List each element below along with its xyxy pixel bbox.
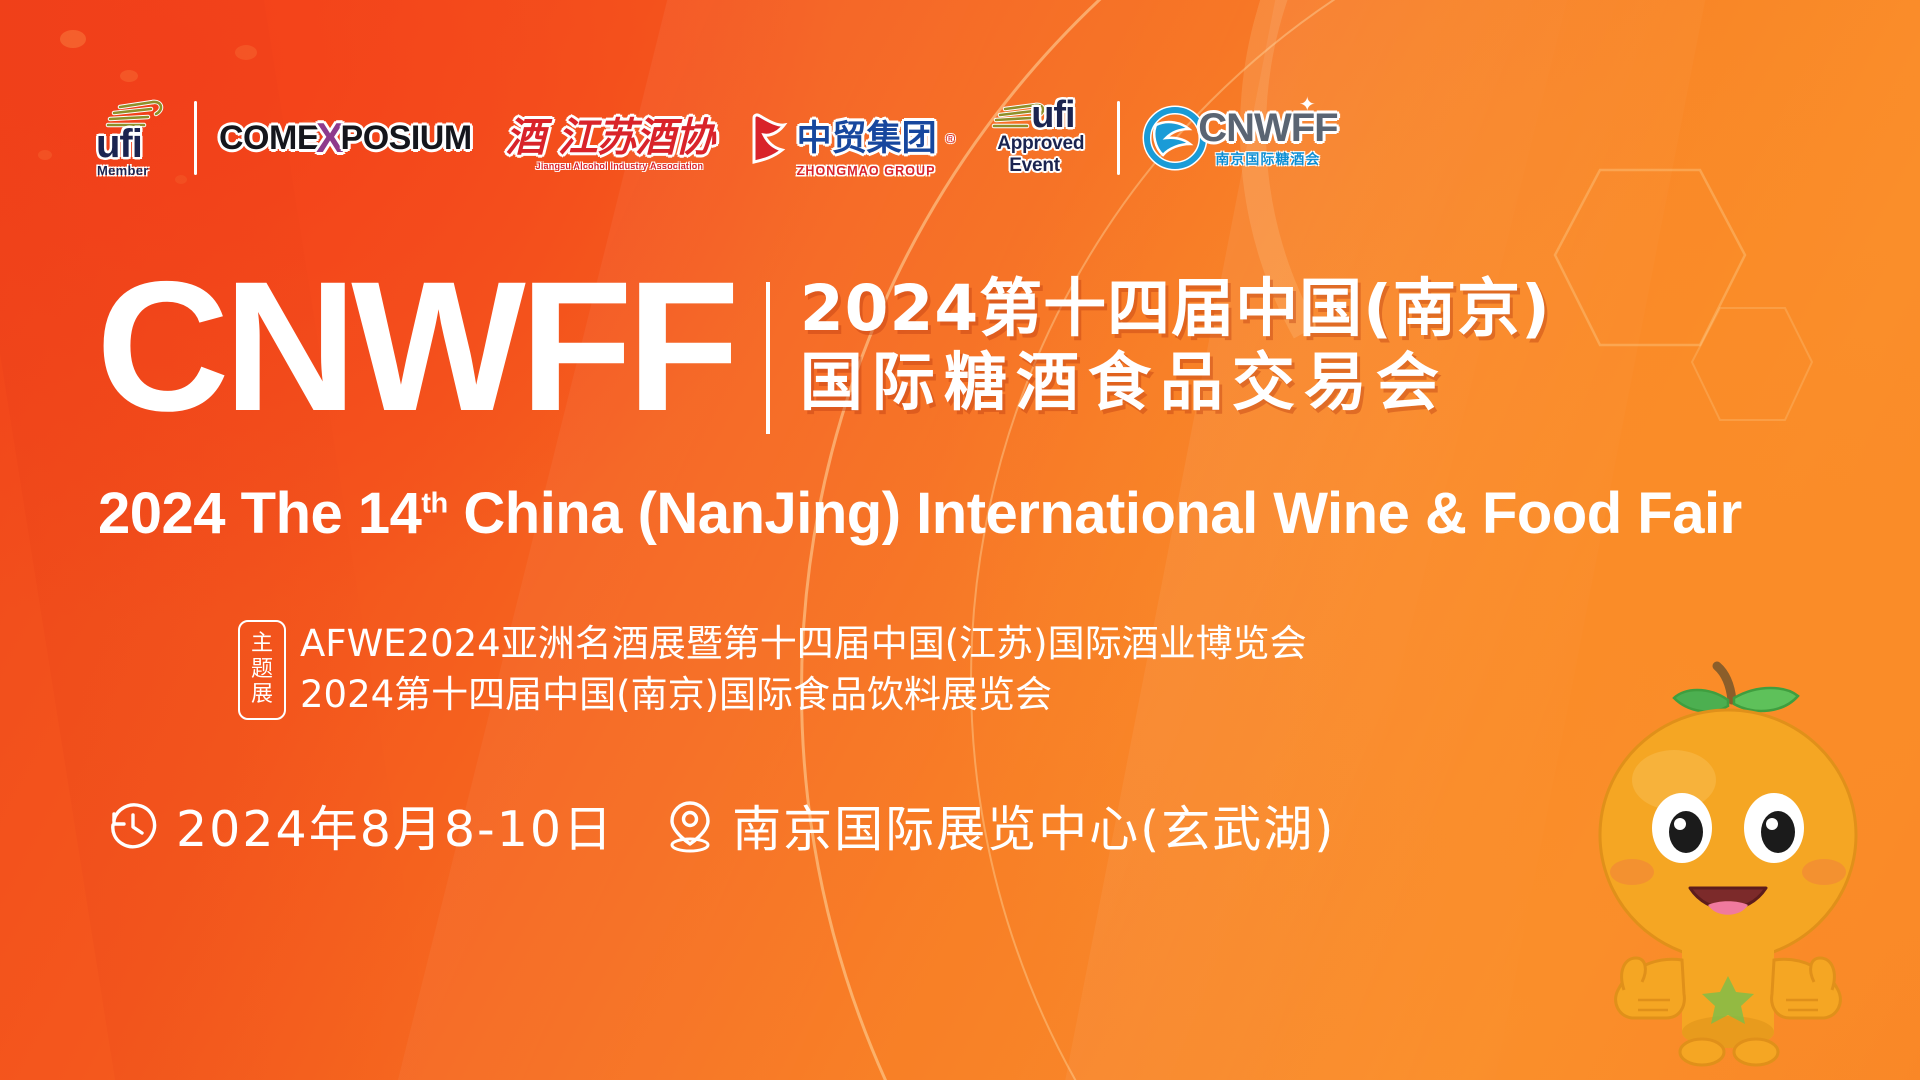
zhongmao-cn-wordmark: 中贸集团: [797, 121, 937, 156]
english-title-ordinal: th: [421, 488, 447, 520]
event-info-row: 2024年8月8-10日 南京国际展览中心(玄武湖): [104, 790, 1335, 861]
map-pin-icon: [664, 798, 716, 854]
logo-zhongmao-group[interactable]: 中贸集团 ® ZHONGMAO GROUP: [748, 112, 956, 164]
page-title-brand: CNWFF: [96, 268, 734, 427]
cnwff-cn-label: 南京国际糖酒会: [1198, 149, 1337, 169]
orange-fruit-mascot: [1562, 660, 1892, 1080]
theme-badge-char-2: 题: [251, 658, 273, 683]
title-block: CNWFF 2024第十四届中国(南京) 国际糖酒食品交易会: [96, 268, 1551, 434]
ufi-approved-line1: Approved: [997, 134, 1084, 153]
logo-divider: [194, 101, 197, 175]
mascot-left-arm: [1616, 958, 1685, 1018]
partner-logo-bar: ufi Member COME X POSIUM 酒 江苏酒协 Jiangsu …: [96, 96, 1338, 180]
logo-ufi-member[interactable]: ufi Member: [96, 96, 172, 180]
theme-badge-char-3: 展: [251, 683, 273, 708]
logo-cnwff[interactable]: CNWFF 南京国际糖酒会 ✦ ✦: [1142, 102, 1337, 174]
english-title: 2024 The 14th China (NanJing) Internatio…: [98, 485, 1742, 543]
bokeh-dot: [38, 150, 52, 160]
ufi-approved-wordmark: ufi: [1031, 96, 1074, 134]
mascot-right-arm: [1772, 958, 1841, 1018]
chinese-title-line1: 2024第十四届中国(南京): [800, 272, 1551, 346]
theme-badge-char-1: 主: [251, 632, 273, 657]
jiangsu-cn-wordmark: 酒 江苏酒协: [506, 118, 714, 158]
comexposium-part1: COME: [219, 121, 319, 155]
comexposium-part2: POSIUM: [341, 121, 472, 155]
english-title-suffix: China (NanJing) International Wine & Foo…: [448, 481, 1742, 546]
zhongmao-registered-mark: ®: [946, 131, 956, 146]
event-location-text: 南京国际展览中心(玄武湖): [732, 790, 1335, 861]
chinese-title: 2024第十四届中国(南京) 国际糖酒食品交易会: [800, 268, 1551, 421]
ufi-member-label: Member: [97, 163, 173, 178]
background-hex-outline-small: [1680, 300, 1820, 450]
clock-icon: [104, 798, 160, 854]
logo-jiangsu-alcohol-association[interactable]: 酒 江苏酒协 Jiangsu Alcohol Industry Associat…: [506, 118, 714, 158]
theme-exhibition-row: 主 题 展 AFWE2024亚洲名酒展暨第十四届中国(江苏)国际酒业博览会 20…: [238, 620, 1307, 720]
zhongmao-bird-icon: [748, 112, 790, 164]
mascot-leaf-right: [1734, 688, 1798, 711]
background-hex-outline: [1540, 160, 1760, 390]
title-divider: [766, 282, 770, 434]
bokeh-dot: [235, 45, 257, 60]
event-date-text: 2024年8月8-10日: [176, 790, 614, 861]
chinese-title-line2: 国际糖酒食品交易会: [800, 346, 1551, 420]
mascot-leaf-left: [1674, 690, 1728, 712]
event-date-item: 2024年8月8-10日: [104, 790, 614, 861]
ufi-wordmark: ufi: [96, 124, 172, 164]
ufi-approved-line2: Event: [1009, 156, 1060, 175]
event-banner: ufi Member COME X POSIUM 酒 江苏酒协 Jiangsu …: [0, 0, 1920, 1080]
theme-exhibition-list: AFWE2024亚洲名酒展暨第十四届中国(江苏)国际酒业博览会 2024第十四届…: [300, 620, 1307, 720]
theme-exhibition-badge: 主 题 展: [238, 620, 286, 720]
cnwff-wordmark: CNWFF: [1198, 108, 1337, 148]
event-location-item: 南京国际展览中心(玄武湖): [664, 790, 1335, 861]
bokeh-dot: [120, 70, 138, 82]
logo-ufi-approved-event[interactable]: ufi Approved Event: [991, 96, 1095, 180]
jiangsu-en-label: Jiangsu Alcohol Industry Association: [536, 161, 704, 171]
zhongmao-en-label: ZHONGMAO GROUP: [797, 164, 936, 178]
theme-exhibition-item: 2024第十四届中国(南京)国际食品饮料展览会: [300, 671, 1307, 720]
logo-comexposium[interactable]: COME X POSIUM: [219, 117, 472, 159]
logo-divider: [1117, 101, 1120, 175]
theme-exhibition-item: AFWE2024亚洲名酒展暨第十四届中国(江苏)国际酒业博览会: [300, 620, 1307, 669]
comexposium-x-icon: X: [316, 117, 344, 159]
bokeh-dot: [60, 30, 86, 48]
english-title-prefix: 2024 The 14: [98, 481, 421, 546]
